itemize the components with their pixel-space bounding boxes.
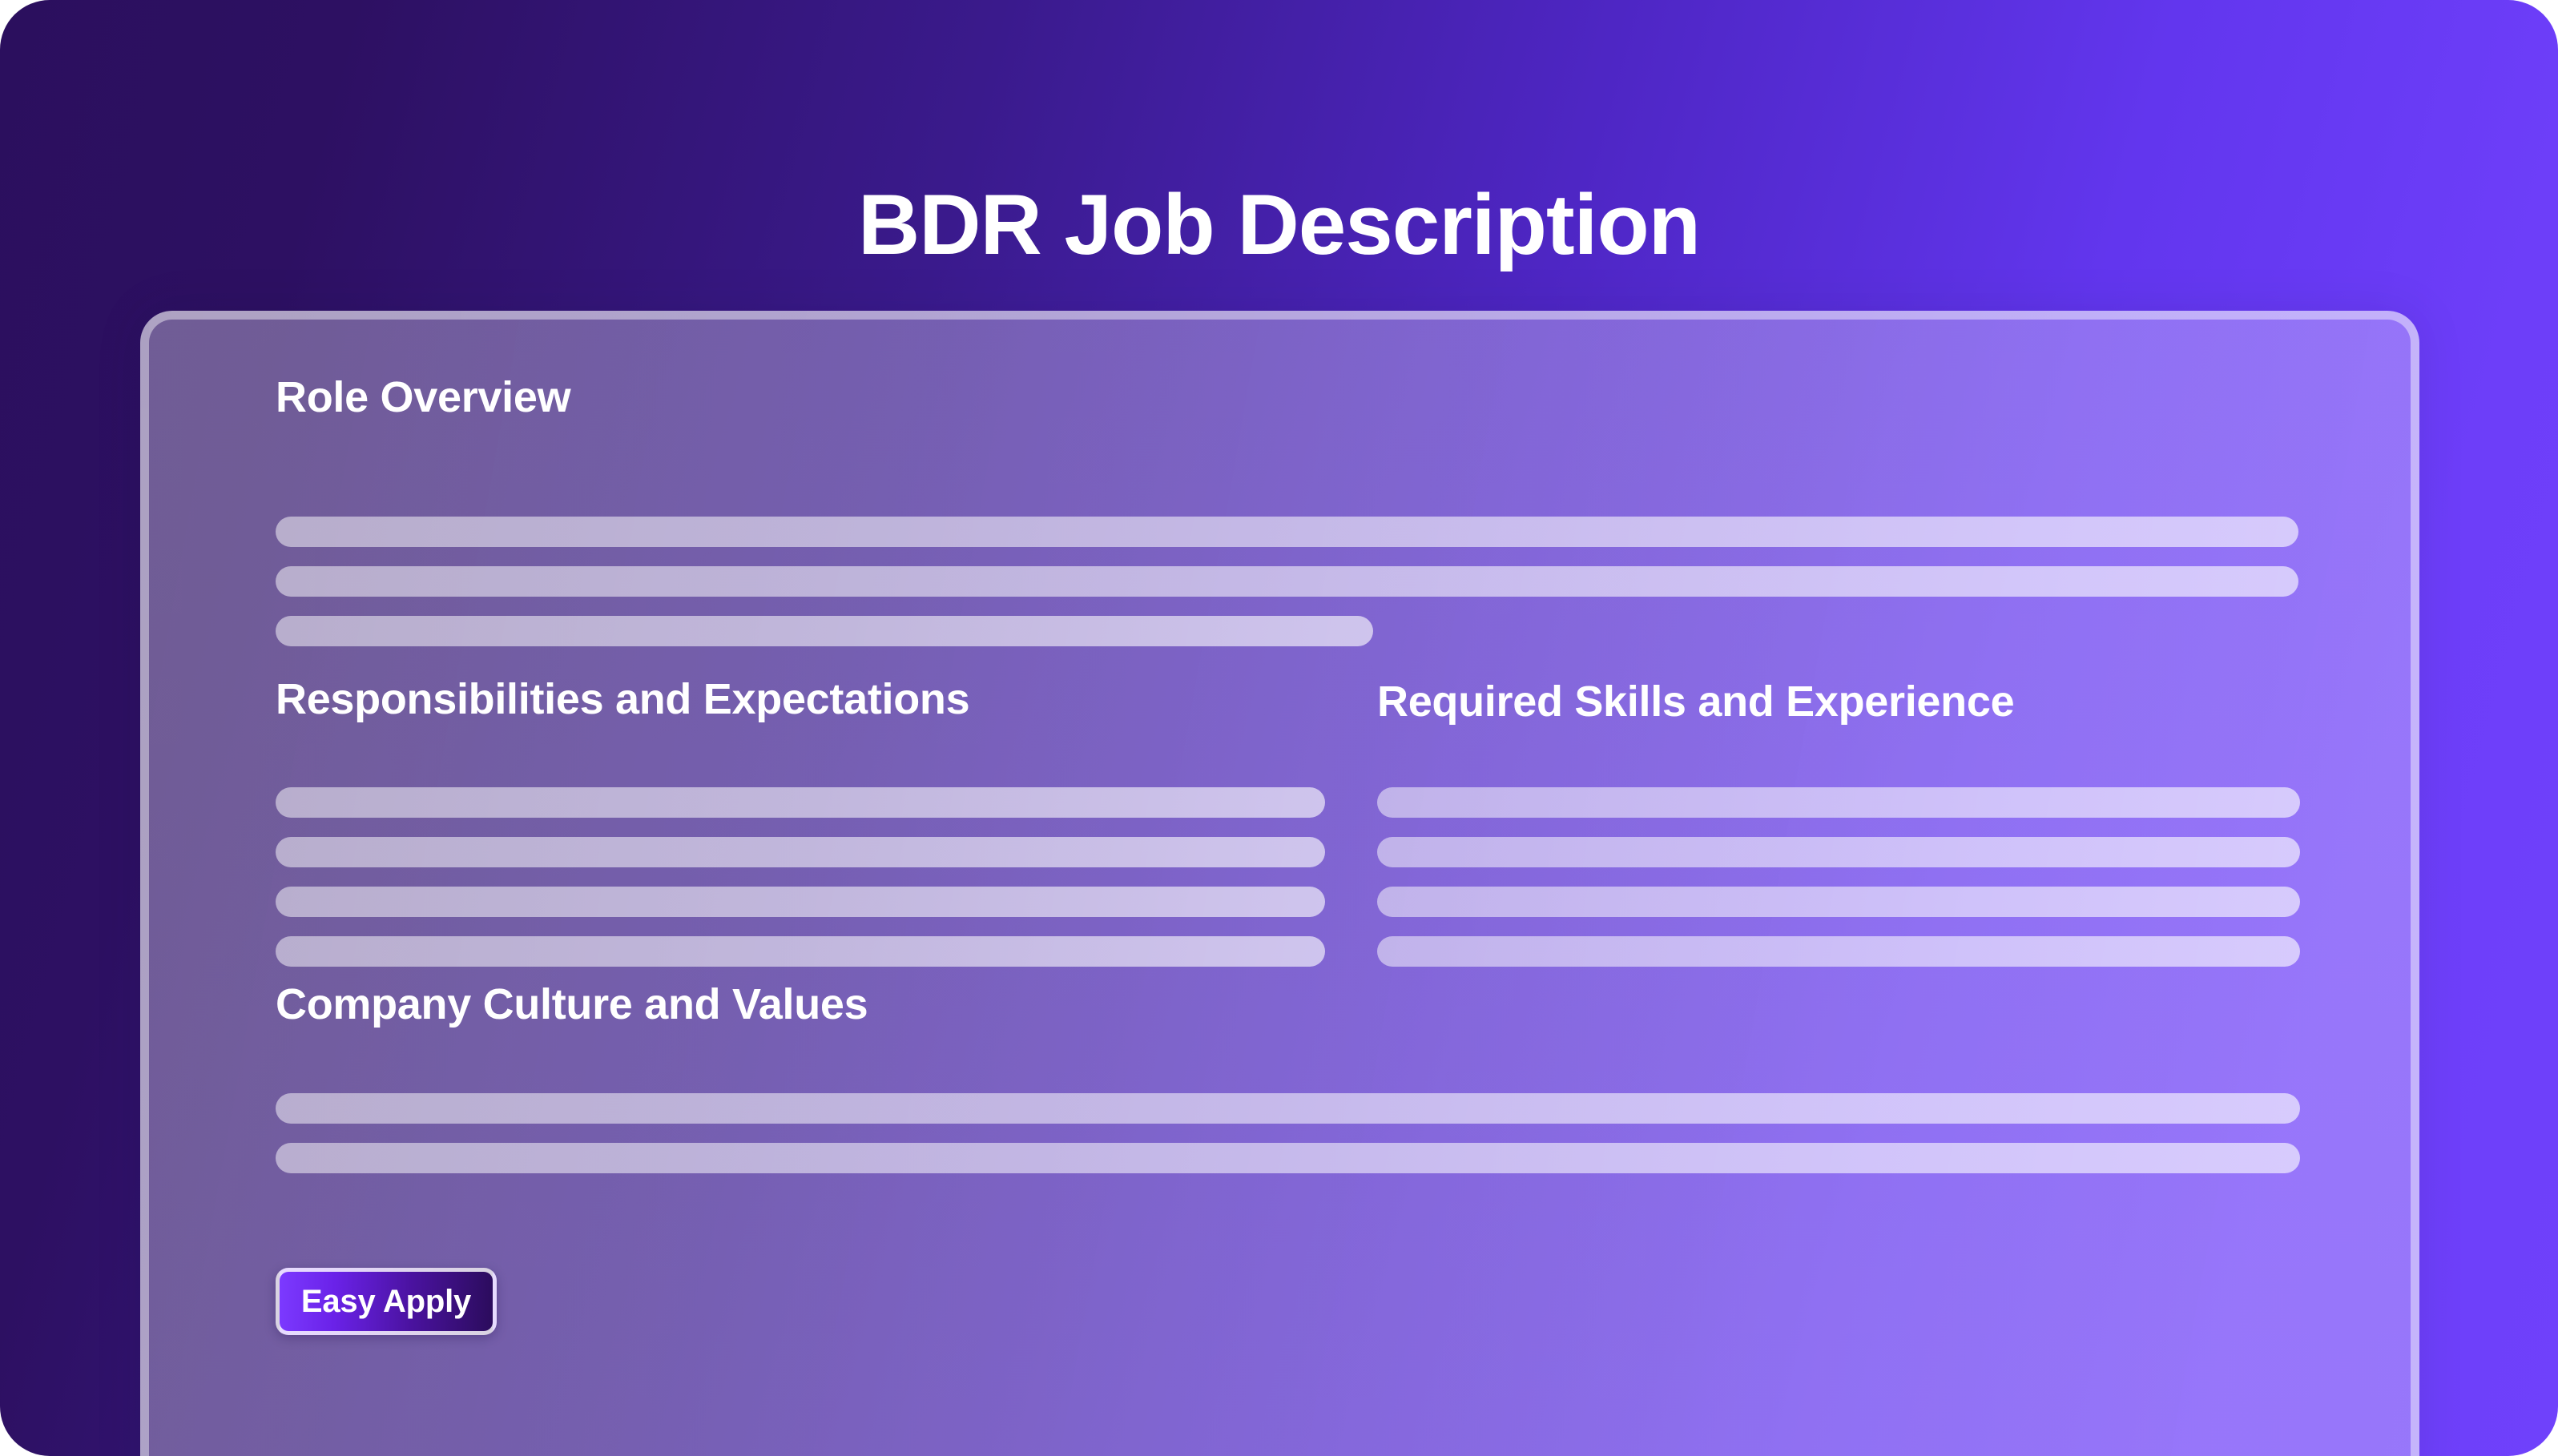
section-heading-company-culture: Company Culture and Values: [276, 983, 868, 1026]
placeholder-line: [276, 1143, 2300, 1173]
section-heading-required-skills: Required Skills and Experience: [1377, 680, 2014, 723]
placeholder-line: [276, 616, 1373, 646]
card-content: Role Overview Responsibilities and Expec…: [149, 320, 2411, 1456]
page-title: BDR Job Description: [0, 179, 2558, 269]
section-heading-role-overview: Role Overview: [276, 376, 570, 419]
easy-apply-button[interactable]: Easy Apply: [276, 1268, 497, 1335]
placeholder-line: [276, 837, 1325, 867]
placeholder-line: [276, 566, 2298, 597]
placeholder-line: [1377, 887, 2300, 917]
job-description-card: Role Overview Responsibilities and Expec…: [140, 311, 2419, 1456]
job-description-panel: BDR Job Description Role Overview Respon…: [0, 0, 2558, 1456]
section-heading-responsibilities: Responsibilities and Expectations: [276, 678, 969, 721]
placeholder-line: [1377, 936, 2300, 967]
placeholder-line: [276, 517, 2298, 547]
placeholder-line: [276, 936, 1325, 967]
placeholder-line: [276, 787, 1325, 818]
placeholder-line: [1377, 837, 2300, 867]
placeholder-line: [276, 887, 1325, 917]
placeholder-line: [276, 1093, 2300, 1124]
placeholder-line: [1377, 787, 2300, 818]
